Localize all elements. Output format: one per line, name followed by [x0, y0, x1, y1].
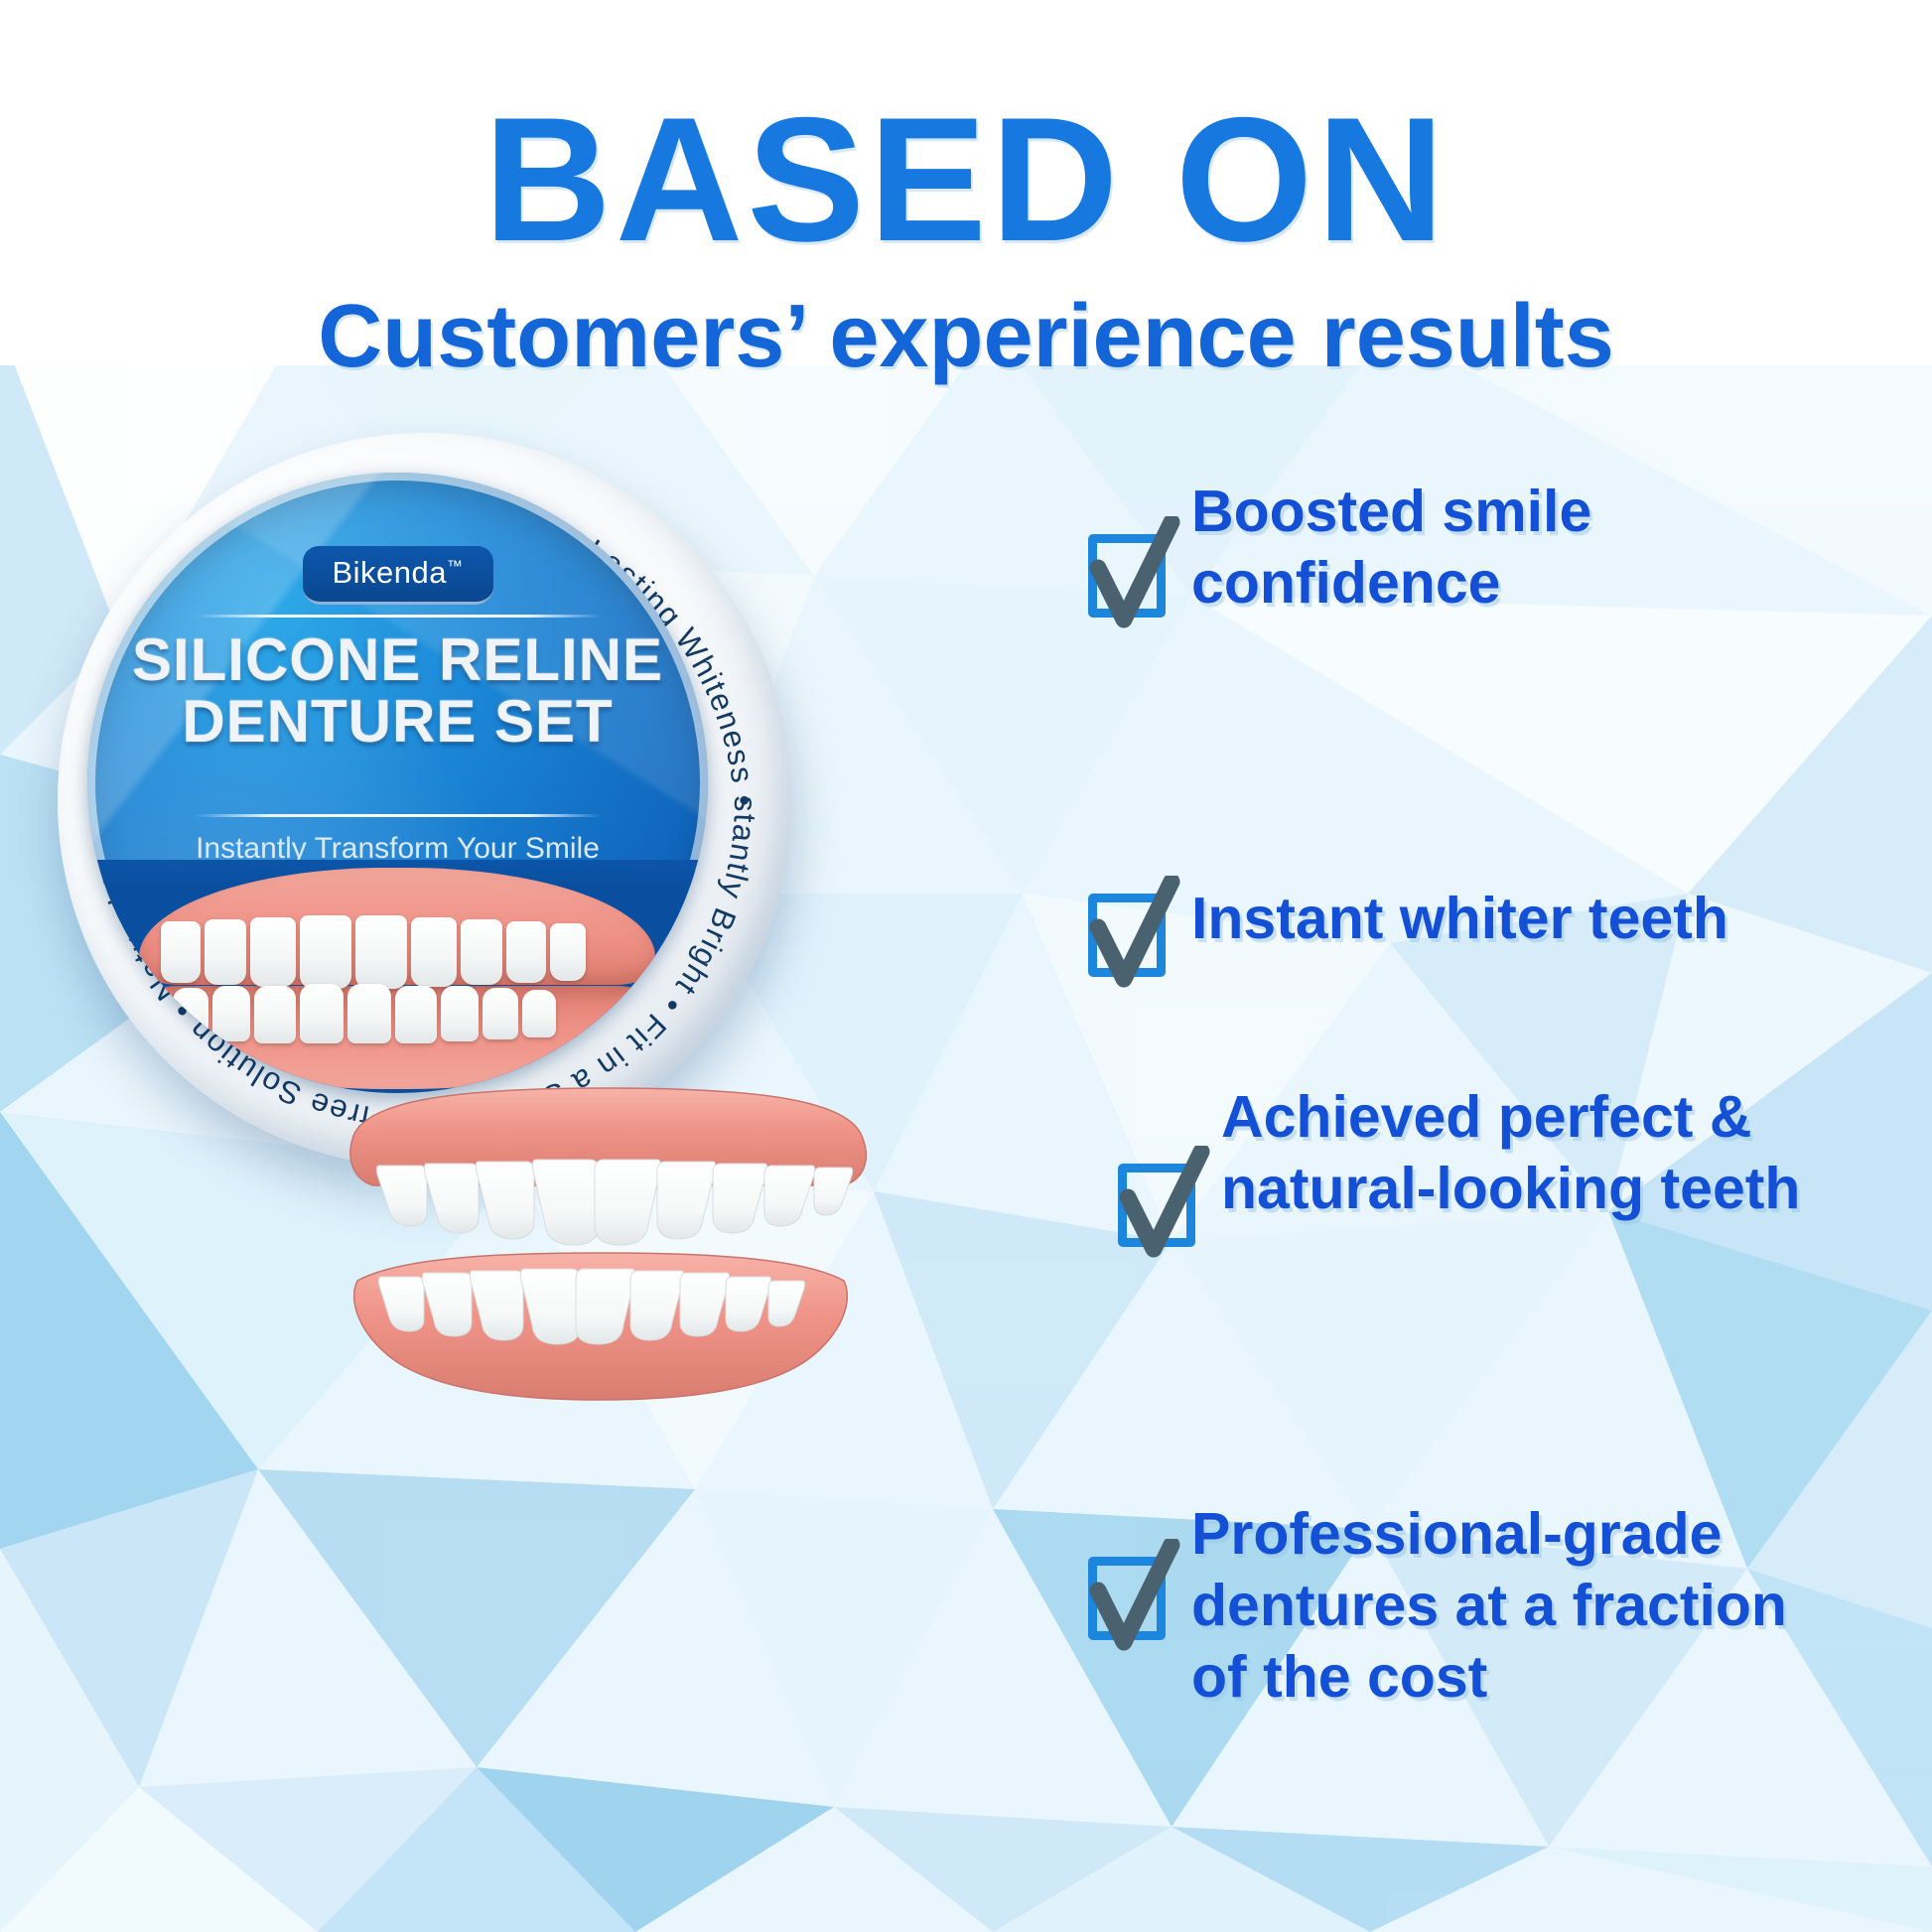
tooth: [300, 984, 344, 1043]
checklist-item[interactable]: Boosted smile confidence: [1082, 477, 1729, 620]
label-divider-top: [195, 615, 602, 618]
check-mark-icon: [1080, 516, 1189, 633]
checklist-item[interactable]: Professional-grade dentures at a fractio…: [1082, 1499, 1809, 1714]
check-mark-icon: [1110, 1146, 1219, 1263]
tooth: [205, 919, 246, 985]
tooth: [461, 919, 502, 985]
checklist-item[interactable]: Instant whiter teeth: [1082, 884, 1728, 979]
tooth: [483, 988, 518, 1039]
tooth: [347, 984, 391, 1043]
tooth: [411, 917, 457, 987]
brand-name: Bikenda: [332, 555, 447, 590]
checkbox-checked[interactable]: [1082, 1547, 1173, 1642]
jar-label: Bikenda™ SILICONE RELINE DENTURE SET Ins…: [87, 473, 708, 1093]
check-mark-icon: [1080, 1539, 1189, 1656]
trademark-symbol: ™: [447, 559, 464, 576]
checklist-item[interactable]: Achieved perfect & natural-looking teeth: [1112, 1082, 1819, 1249]
product-image: Convenience on the Go • Perfect Fit, Per…: [30, 417, 884, 1529]
checkbox-checked[interactable]: [1082, 524, 1173, 620]
label-divider-bottom: [195, 814, 602, 817]
brand-badge: Bikenda™: [302, 546, 492, 605]
lower-veneer: [338, 1251, 864, 1415]
checklist-item-label: Professional-grade dentures at a fractio…: [1173, 1499, 1809, 1714]
tooth: [173, 988, 208, 1039]
tooth: [522, 990, 556, 1037]
checkbox-checked[interactable]: [1082, 884, 1173, 979]
checklist-item-label: Boosted smile confidence: [1173, 477, 1729, 620]
product-title-line2: DENTURE SET: [87, 691, 708, 753]
teeth-photo: [87, 860, 708, 1093]
tooth: [250, 917, 296, 987]
tooth: [254, 986, 296, 1043]
tooth: [395, 986, 437, 1043]
checklist-item-label: Achieved perfect & natural-looking teeth: [1203, 1082, 1819, 1225]
upper-veneer: [328, 1084, 889, 1248]
tooth: [550, 923, 586, 981]
check-mark-icon: [1080, 876, 1189, 993]
checkbox-checked[interactable]: [1112, 1154, 1203, 1249]
tooth: [161, 921, 201, 983]
tooth: [212, 986, 250, 1041]
tooth: [441, 986, 479, 1041]
tooth: [506, 921, 546, 983]
product-title: SILICONE RELINE DENTURE SET: [87, 629, 708, 754]
checklist-item-label: Instant whiter teeth: [1173, 884, 1728, 955]
product-title-line1: SILICONE RELINE: [87, 629, 708, 691]
benefits-checklist: Boosted smile confidence Instant whiter …: [1082, 0, 1932, 1932]
tooth: [300, 915, 351, 989]
tooth: [355, 915, 407, 989]
